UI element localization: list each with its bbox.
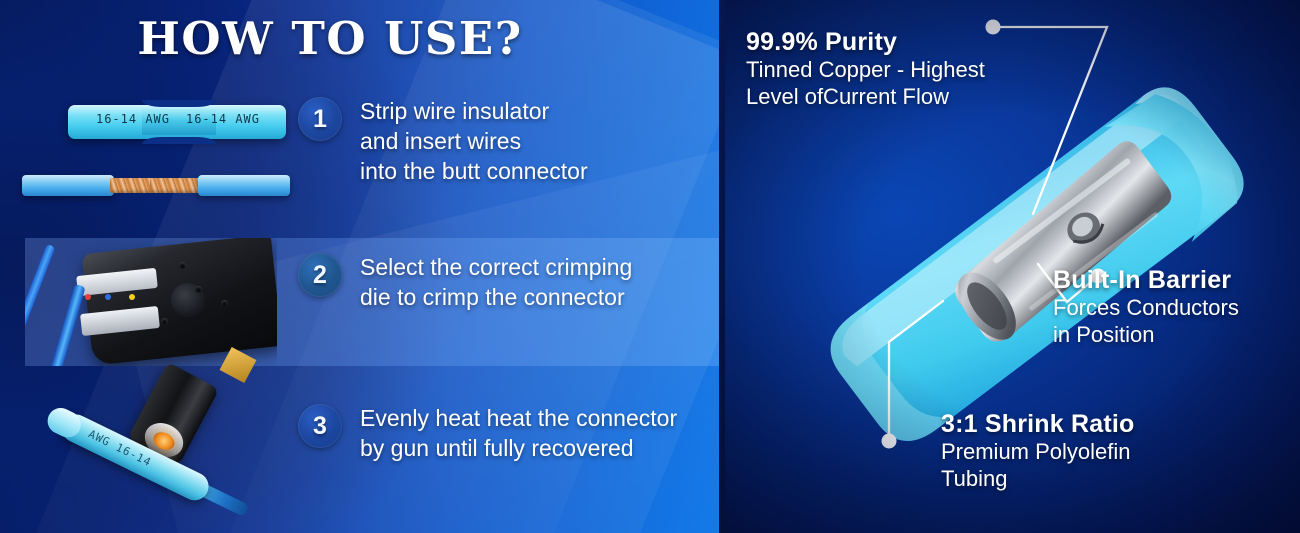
tool-hole-2 (195, 286, 202, 293)
tool-hole-3 (161, 318, 168, 325)
step-number-badge-1: 1 (298, 97, 342, 141)
tool-wire-upper (25, 244, 55, 366)
callout-barrier: Built-In Barrier Forces Conductors in Po… (1053, 266, 1239, 349)
step-item-1: 1 Strip wire insulator and insert wires … (298, 97, 588, 187)
callout-purity-line-2: Level ofCurrent Flow (746, 84, 985, 111)
callout-purity-title: 99.9% Purity (746, 28, 985, 57)
tool-hole-4 (221, 300, 228, 307)
right-panel-product-features: 99.9% Purity Tinned Copper - Highest Lev… (725, 0, 1300, 533)
step-text-3: Evenly heat heat the connector by gun un… (360, 404, 677, 464)
step-item-2: 2 Select the correct crimping die to cri… (298, 253, 632, 313)
callout-barrier-line-2: in Position (1053, 322, 1239, 349)
butt-connector-illustration: 16-14 AWG 16-14 AWG (68, 100, 286, 144)
step-number-badge-2: 2 (298, 253, 342, 297)
step-item-3: 3 Evenly heat heat the connector by gun … (298, 404, 677, 464)
callout-shrink-line-1: Premium Polyolefin (941, 439, 1135, 466)
leader-dot-shrink (882, 434, 897, 449)
step-3-line-2: by gun until fully recovered (360, 434, 677, 464)
wire-right-insulation (198, 175, 290, 196)
stripped-wires-illustration (22, 172, 290, 200)
step-number-badge-3: 3 (298, 404, 342, 448)
page-title: HOW TO USE? (0, 12, 660, 65)
wire-right-copper-strands (150, 178, 202, 193)
tool-hole-1 (179, 262, 186, 269)
die-marker-blue (105, 294, 111, 300)
callout-barrier-title: Built-In Barrier (1053, 266, 1239, 295)
crimping-tool-illustration (25, 238, 277, 366)
step-1-line-1: Strip wire insulator (360, 97, 588, 127)
callout-barrier-line-1: Forces Conductors (1053, 295, 1239, 322)
wire-left-insulation (22, 175, 114, 196)
infographic-stage: HOW TO USE? 16-14 AWG 16-14 AWG (0, 0, 1300, 533)
die-marker-red (85, 294, 91, 300)
callout-shrink-line-2: Tubing (941, 466, 1135, 493)
step-1-line-3: into the butt connector (360, 157, 588, 187)
die-marker-yellow (129, 294, 135, 300)
step-2-line-2: die to crimp the connector (360, 283, 632, 313)
tool-wire-lower (49, 284, 86, 366)
callout-purity-line-1: Tinned Copper - Highest (746, 57, 985, 84)
step-2-line-1: Select the correct crimping (360, 253, 632, 283)
step-3-line-1: Evenly heat heat the connector (360, 404, 677, 434)
callout-shrink-title: 3:1 Shrink Ratio (941, 410, 1135, 439)
leader-dot-purity (986, 20, 1001, 35)
step-text-2: Select the correct crimping die to crimp… (360, 253, 632, 313)
heat-gun-illustration (150, 368, 260, 468)
callout-shrink-ratio: 3:1 Shrink Ratio Premium Polyolefin Tubi… (941, 410, 1135, 493)
left-panel-how-to-use: HOW TO USE? 16-14 AWG 16-14 AWG (0, 0, 719, 533)
step-1-line-2: and insert wires (360, 127, 588, 157)
callout-purity: 99.9% Purity Tinned Copper - Highest Lev… (746, 28, 985, 111)
step-text-1: Strip wire insulator and insert wires in… (360, 97, 588, 187)
